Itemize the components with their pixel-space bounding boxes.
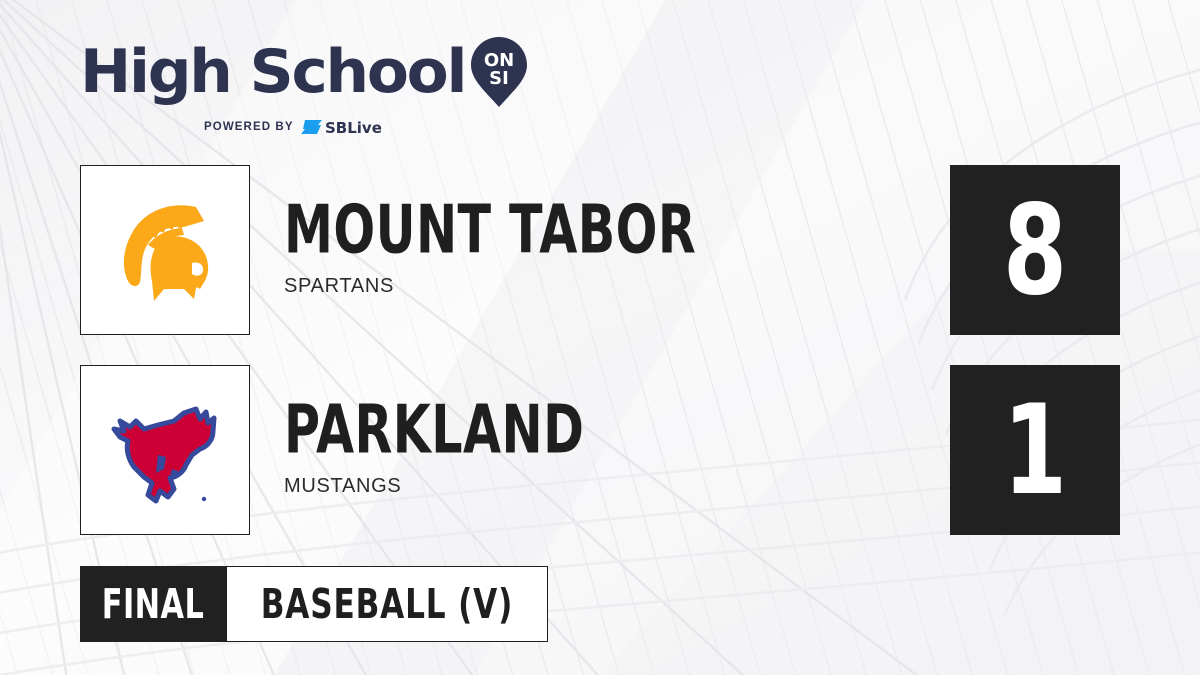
- brand-logo: High School ON SI POWERED BY SBLive: [80, 36, 528, 137]
- team-info: MOUNT TABOR SPARTANS: [284, 165, 787, 335]
- sblive-logo: SBLive: [301, 117, 397, 137]
- team-score-box: 8: [950, 165, 1120, 335]
- team-name: MOUNT TABOR: [284, 199, 696, 262]
- powered-by-row: POWERED BY SBLive: [204, 117, 528, 137]
- team-logo-box: [80, 365, 250, 535]
- powered-by-label: POWERED BY: [204, 121, 294, 133]
- brand-row: High School ON SI: [80, 36, 528, 108]
- spartan-helmet-icon: [100, 185, 230, 315]
- status-bar: FINAL BASEBALL (V): [80, 566, 548, 642]
- team-name: PARKLAND: [284, 399, 584, 462]
- team-score-box: 1: [950, 365, 1120, 535]
- team-mascot: SPARTANS: [284, 275, 787, 298]
- pin-line2: SI: [489, 68, 509, 89]
- team-mascot: MUSTANGS: [284, 475, 650, 498]
- on-si-pin-icon: ON SI: [470, 36, 528, 108]
- sport-label-box: BASEBALL (V): [227, 566, 548, 642]
- team-info: PARKLAND MUSTANGS: [284, 365, 650, 535]
- sport-label: BASEBALL (V): [261, 580, 513, 628]
- team-score: 1: [1003, 388, 1067, 512]
- team-logo-box: [80, 165, 250, 335]
- mustang-horse-icon: [100, 385, 230, 515]
- game-status-badge: FINAL: [80, 566, 227, 642]
- game-status-label: FINAL: [102, 580, 204, 628]
- sblive-wordmark: SBLive: [325, 119, 382, 137]
- team-score: 8: [1003, 188, 1067, 312]
- brand-wordmark: High School: [80, 42, 465, 102]
